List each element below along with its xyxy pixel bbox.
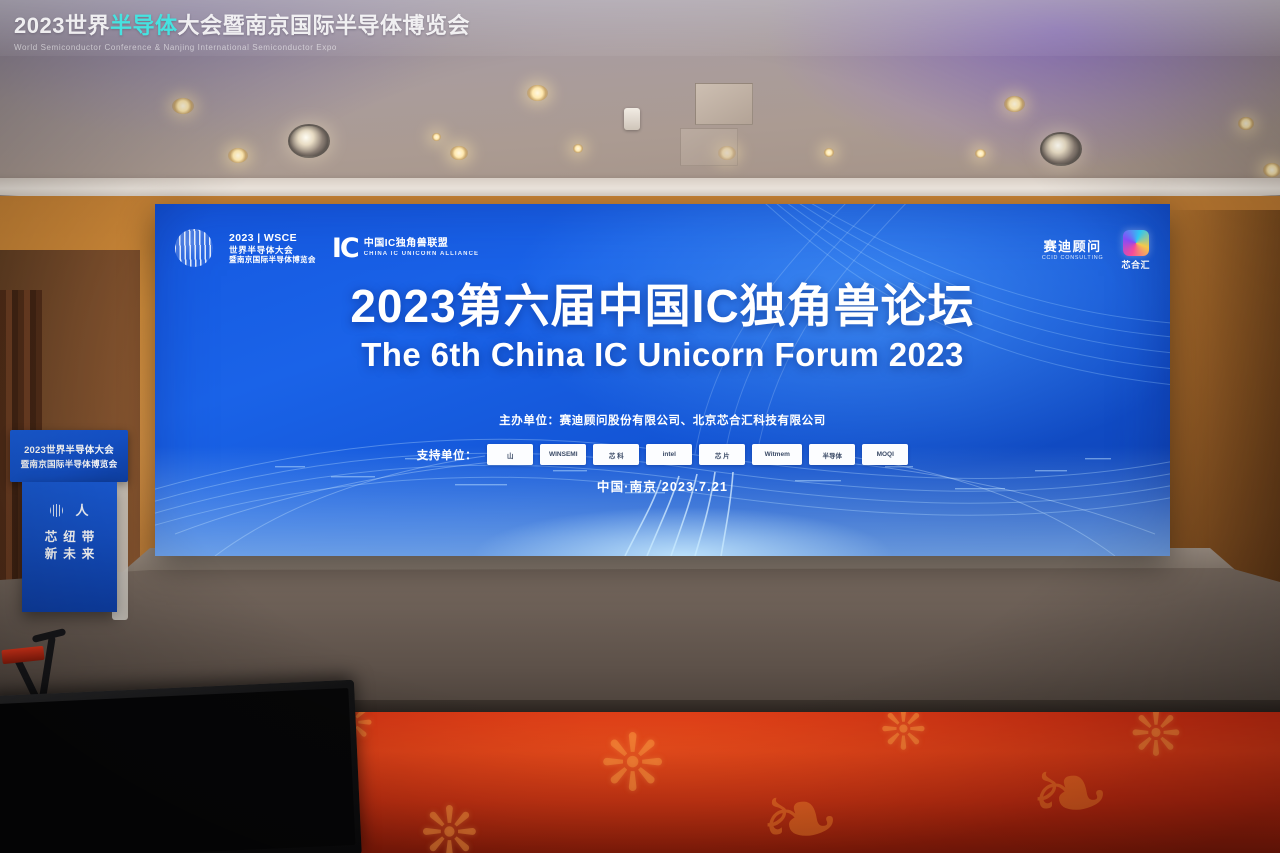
podium-banner-line2: 暨南京国际半导体博览会: [21, 458, 118, 470]
watermark-subtitle: World Semiconductor Conference & Nanjing…: [14, 43, 1280, 52]
downlight-10: [1004, 96, 1025, 112]
carpet-medallion: ❊: [880, 712, 927, 758]
watermark-title: 2023世界半导体大会暨南京国际半导体博览会: [14, 8, 1280, 40]
carpet-medallion: ❊: [1130, 712, 1182, 766]
downlight-5: [527, 85, 548, 101]
podium-top-banner: 2023世界半导体大会 暨南京国际半导体博览会: [10, 430, 128, 482]
led-backdrop-screen: 2023 | WSCE 世界半导体大会 暨南京国际半导体博览会 IC 中国IC独…: [155, 204, 1170, 556]
ic-logo-text: 中国IC独角兽联盟 CHINA IC UNICORN ALLIANCE: [364, 238, 479, 258]
supporter-logo-7: 半导体: [809, 444, 855, 465]
podium-slogan-line2: 新未来: [39, 546, 101, 563]
watermark-prefix: 2023世界: [14, 13, 110, 38]
supporter-logo-2: WINSEMI: [540, 444, 586, 465]
wsce-cn-line2: 暨南京国际半导体博览会: [229, 255, 316, 264]
supporter-logo-5: 芯 片: [699, 444, 745, 465]
wsce-logo-text: 2023 | WSCE 世界半导体大会 暨南京国际半导体博览会: [229, 232, 316, 265]
monitor-screen: [0, 688, 355, 853]
led-logo-group-left: 2023 | WSCE 世界半导体大会 暨南京国际半导体博览会 IC 中国IC独…: [175, 229, 479, 267]
supporter-logo-6: Witmem: [752, 444, 802, 465]
wsce-globe-icon: [175, 229, 213, 267]
podium-banner-line1: 2023世界半导体大会: [24, 442, 114, 456]
foreground-monitor: [0, 680, 362, 853]
downlight-8: [824, 148, 834, 157]
supporter-logo-4: intel: [646, 444, 692, 465]
podium-alliance-icon: 人: [75, 504, 88, 517]
carpet-scroll-motif: ❧: [1030, 746, 1110, 842]
downlight-6: [573, 144, 583, 153]
downlight-3: [432, 133, 441, 141]
downlight-4: [450, 146, 468, 160]
forum-title-cn: 2023第六届中国IC独角兽论坛: [155, 282, 1170, 332]
ccid-en: CCID CONSULTING: [1042, 255, 1104, 261]
downlight-12: [1263, 163, 1280, 177]
ceiling-vent-2: [680, 128, 738, 166]
xinhehui-cn: 芯合汇: [1121, 258, 1150, 271]
downlight-9: [975, 149, 986, 158]
xinhehui-logo: 芯合汇: [1121, 230, 1150, 271]
rig-red-indicator: [1, 646, 44, 664]
ic-alliance-cn: 中国IC独角兽联盟: [364, 238, 479, 251]
podium-slogan: 芯纽带 新未来: [39, 529, 101, 563]
podium-logo-marks: 人: [50, 504, 88, 517]
watermark-highlight: 半导体: [110, 13, 178, 38]
supporter-logo-1: 山: [487, 444, 533, 465]
conference-hall-photo: 2023 | WSCE 世界半导体大会 暨南京国际半导体博览会 IC 中国IC独…: [0, 0, 1280, 853]
forum-title-en: The 6th China IC Unicorn Forum 2023: [155, 336, 1170, 374]
podium-front-panel: 人 芯纽带 新未来: [22, 482, 117, 612]
host-organizations-line: 主办单位：赛迪顾问股份有限公司、北京芯合汇科技有限公司: [155, 412, 1170, 428]
podium-globe-icon: [50, 504, 63, 517]
supporter-logo-8: MOQI: [862, 444, 908, 465]
downlight-1: [172, 98, 194, 114]
led-logo-group-right: 赛迪顾问 CCID CONSULTING 芯合汇: [1042, 230, 1150, 271]
ic-unicorn-alliance-logo: IC 中国IC独角兽联盟 CHINA IC UNICORN ALLIANCE: [332, 235, 479, 262]
supporter-label: 支持单位：: [417, 447, 478, 463]
downlight-11: [1238, 117, 1254, 130]
ic-alliance-en: CHINA IC UNICORN ALLIANCE: [364, 251, 479, 259]
carpet-medallion: ❊: [600, 724, 665, 802]
event-date-location: 中国·南京 2023.7.21: [155, 476, 1170, 495]
ceiling-sensor: [624, 108, 640, 130]
supporter-logo-3: 芯 科: [593, 444, 639, 465]
ic-mark-icon: IC: [332, 235, 358, 262]
podium-slogan-line1: 芯纽带: [39, 529, 101, 546]
ccid-cn: 赛迪顾问: [1042, 239, 1104, 255]
forum-title-block: 2023第六届中国IC独角兽论坛 The 6th China IC Unicor…: [155, 282, 1170, 374]
ceiling-spotlight-right: [1040, 132, 1082, 166]
ceiling-spotlight-left: [288, 124, 330, 158]
watermark-suffix: 大会暨南京国际半导体博览会: [177, 13, 470, 38]
carpet-medallion: ❊: [420, 798, 479, 853]
photo-watermark: 2023世界半导体大会暨南京国际半导体博览会 World Semiconduct…: [0, 0, 1280, 56]
wsce-cn-line1: 世界半导体大会: [229, 245, 316, 255]
wsce-brand: 2023 | WSCE: [229, 232, 316, 245]
speaker-podium: 2023世界半导体大会 暨南京国际半导体博览会 人 芯纽带 新未来: [8, 430, 136, 620]
ccid-consulting-logo: 赛迪顾问 CCID CONSULTING: [1042, 239, 1104, 261]
downlight-2: [228, 148, 248, 163]
supporter-logos-row: 支持单位： 山 WINSEMI 芯 科 intel 芯 片 Witmem 半导体…: [155, 444, 1170, 465]
ceiling-vent: [695, 83, 753, 125]
xinhehui-mark-icon: [1123, 230, 1149, 256]
carpet-scroll-motif: ❧: [760, 772, 840, 853]
